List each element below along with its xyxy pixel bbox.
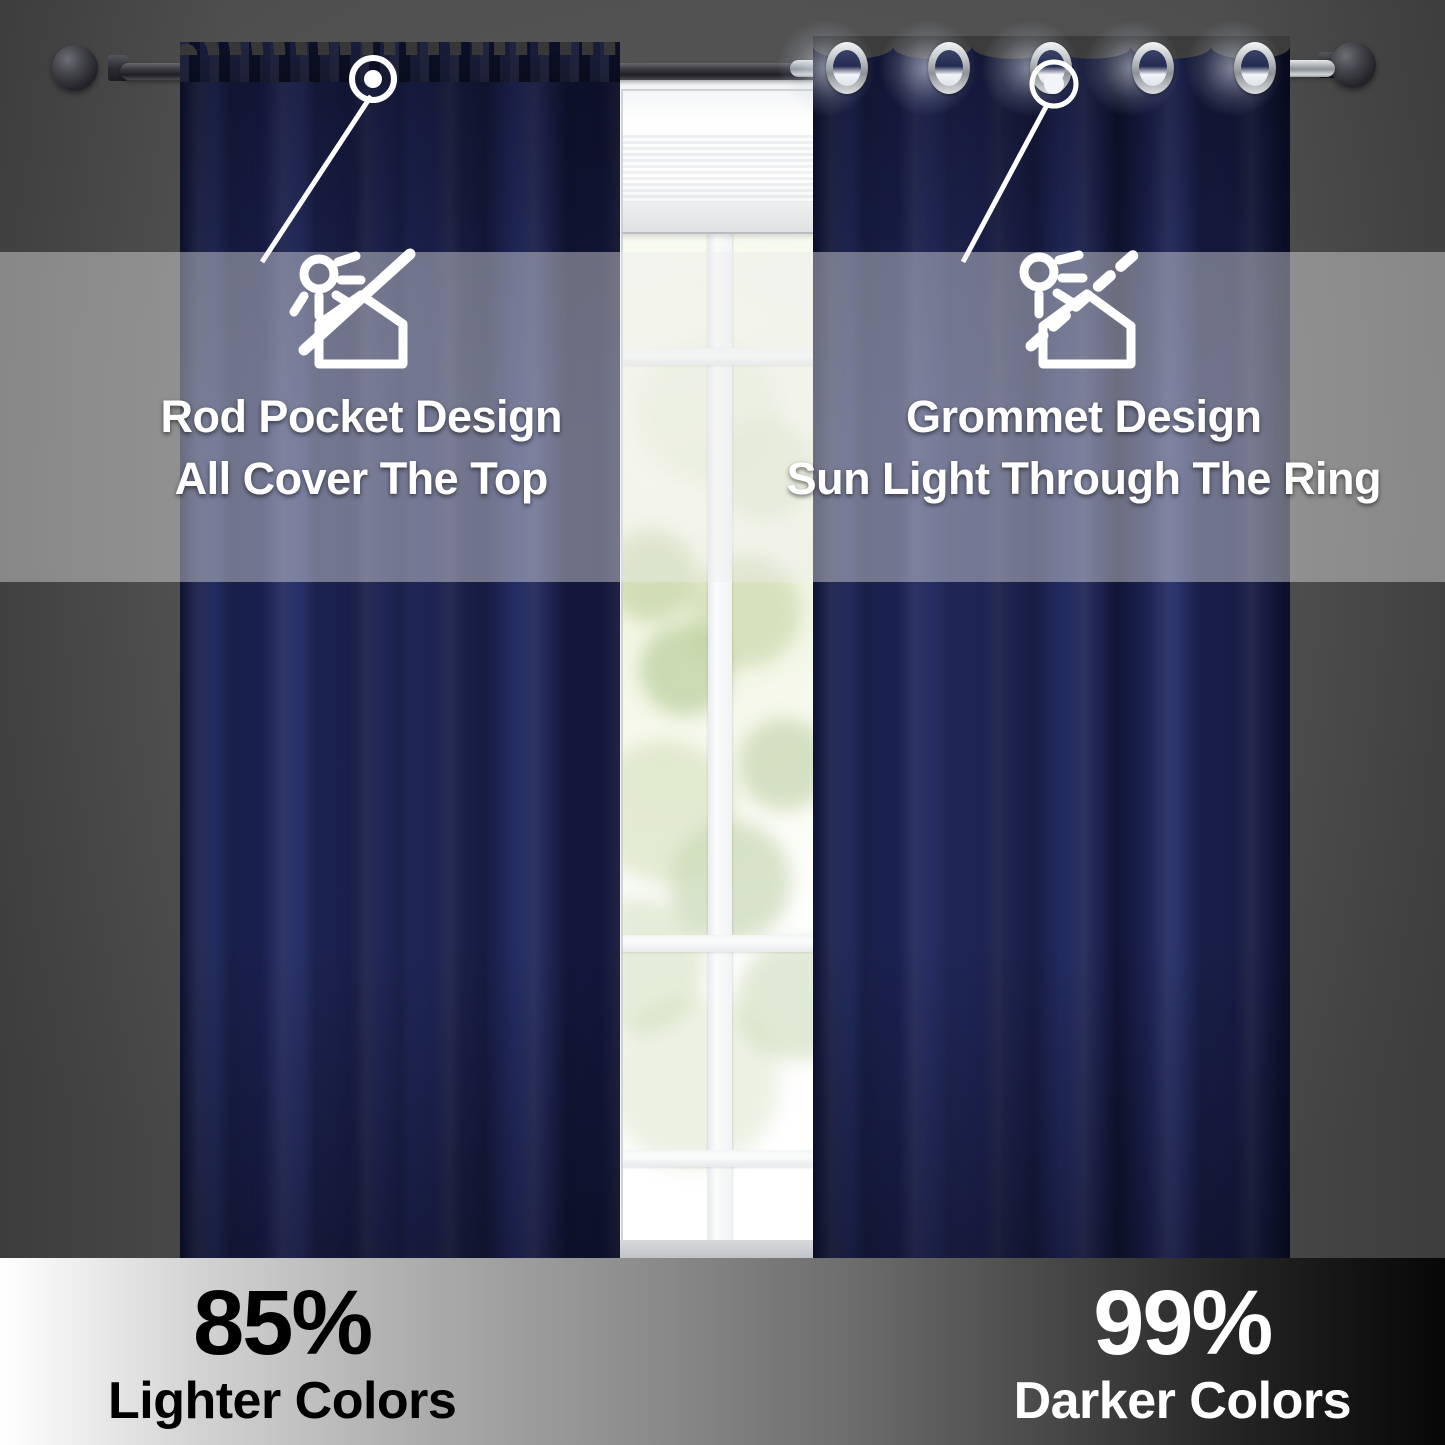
curtain-bottom-shadow	[813, 940, 1290, 1258]
lighter-colors-stat: 85% Lighter Colors	[108, 1277, 456, 1427]
grommet-curtain-panel	[813, 36, 1290, 1258]
rod-pocket-curtain-panel	[180, 42, 620, 1258]
feature-text-block: Rod Pocket Design All Cover The Top	[160, 386, 562, 510]
darker-colors-stat: 99% Darker Colors	[1014, 1277, 1351, 1427]
feature-line-2: Sun Light Through The Ring	[787, 448, 1381, 510]
grommet-ring	[826, 42, 868, 94]
grommet-ring	[928, 42, 970, 94]
grommet-ring	[1132, 42, 1174, 94]
product-feature-image: Rod Pocket Design All Cover The Top Grom…	[0, 0, 1445, 1445]
lighter-colors-percent: 85%	[108, 1277, 456, 1369]
window-sill	[612, 1240, 827, 1260]
darker-colors-percent: 99%	[1014, 1277, 1351, 1369]
sun-through-house-icon	[1009, 240, 1159, 372]
feature-line-2: All Cover The Top	[160, 448, 562, 510]
feature-rod-pocket: Rod Pocket Design All Cover The Top	[0, 240, 723, 540]
darker-colors-label: Darker Colors	[1014, 1375, 1351, 1427]
feature-line-1: Rod Pocket Design	[160, 386, 562, 448]
feature-line-1: Grommet Design	[787, 386, 1381, 448]
feature-text-block: Grommet Design Sun Light Through The Rin…	[787, 386, 1381, 510]
right-ball-finial	[1330, 42, 1376, 88]
lighter-colors-label: Lighter Colors	[108, 1375, 456, 1427]
feature-grommet: Grommet Design Sun Light Through The Rin…	[723, 240, 1445, 540]
curtain-bottom-shadow	[180, 942, 620, 1258]
feature-row: Rod Pocket Design All Cover The Top Grom…	[0, 240, 1445, 540]
grommet-ring	[1234, 42, 1276, 94]
grommet-ring	[1030, 42, 1072, 94]
left-ball-finial	[52, 45, 98, 91]
sun-blocked-house-icon	[286, 240, 436, 372]
blackout-comparison-banner: 85% Lighter Colors 99% Darker Colors	[0, 1258, 1445, 1445]
